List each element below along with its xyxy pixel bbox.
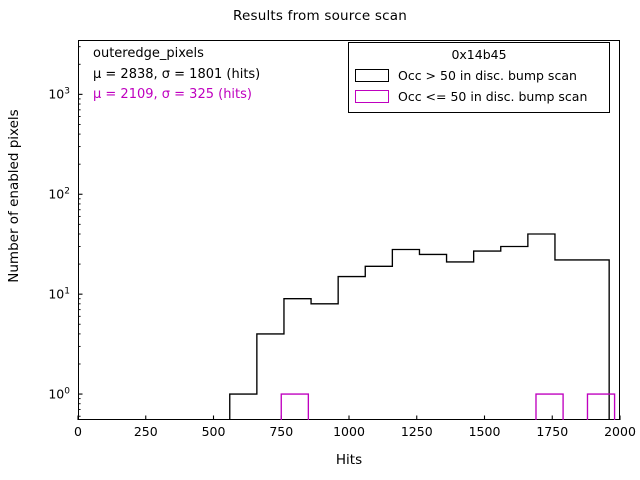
legend-swatch-magenta-icon xyxy=(355,90,389,103)
y-axis-label: Number of enabled pixels xyxy=(6,6,22,386)
stats-annotation: outeredge_pixels μ = 2838, σ = 1801 (hit… xyxy=(93,44,343,106)
x-tick-label: 1750 xyxy=(536,424,568,439)
y-tick-label: 100 xyxy=(36,386,70,401)
y-tick-label: 103 xyxy=(36,87,70,102)
dataset-name-label: outeredge_pixels xyxy=(93,44,343,65)
y-tick-label: 102 xyxy=(36,187,70,202)
x-tick-label: 250 xyxy=(134,424,158,439)
chart-legend: 0x14b45 Occ > 50 in disc. bump scan Occ … xyxy=(348,42,610,113)
legend-item-magenta[interactable]: Occ <= 50 in disc. bump scan xyxy=(355,86,603,107)
x-tick-label: 1500 xyxy=(469,424,501,439)
legend-label-black: Occ > 50 in disc. bump scan xyxy=(398,68,577,83)
x-tick-label: 500 xyxy=(202,424,226,439)
legend-label-magenta: Occ <= 50 in disc. bump scan xyxy=(398,89,587,104)
legend-item-black[interactable]: Occ > 50 in disc. bump scan xyxy=(355,65,603,86)
x-tick-label: 2000 xyxy=(604,424,636,439)
x-tick-label: 1250 xyxy=(401,424,433,439)
chart-figure: Results from source scan Number of enabl… xyxy=(0,0,640,480)
legend-title: 0x14b45 xyxy=(355,47,603,62)
x-axis-label: Hits xyxy=(78,452,620,468)
x-tick-label: 0 xyxy=(74,424,82,439)
chart-title: Results from source scan xyxy=(0,8,640,24)
stats-magenta-label: μ = 2109, σ = 325 (hits) xyxy=(93,85,343,106)
legend-swatch-black-icon xyxy=(355,69,389,82)
y-tick-label: 101 xyxy=(36,287,70,302)
x-tick-label: 750 xyxy=(269,424,293,439)
x-tick-label: 1000 xyxy=(333,424,365,439)
stats-black-label: μ = 2838, σ = 1801 (hits) xyxy=(93,65,343,86)
